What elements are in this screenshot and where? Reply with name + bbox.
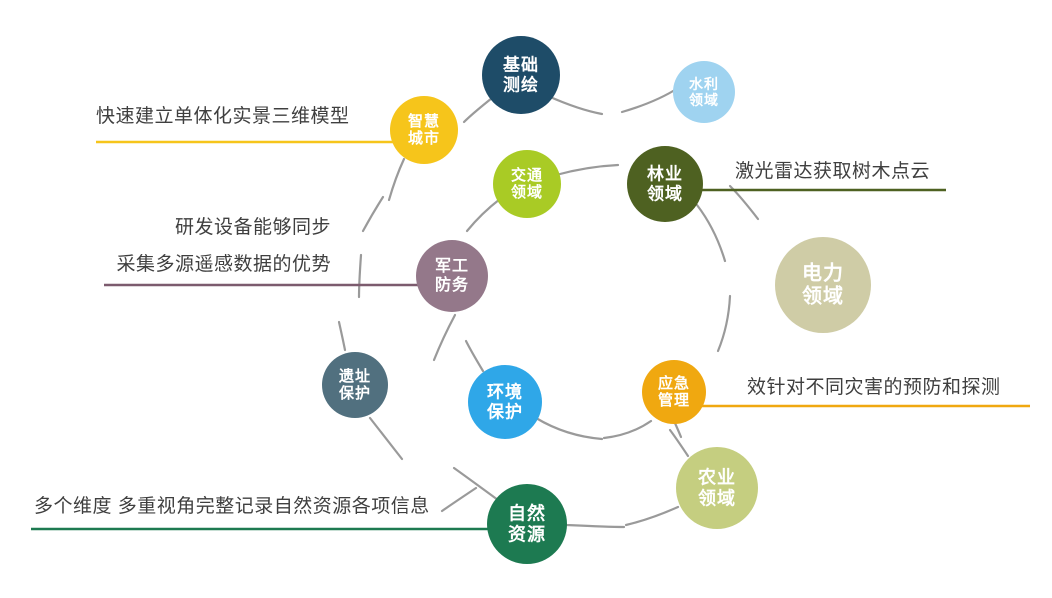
- node-label-line2: 领域: [510, 183, 543, 201]
- connector-arc: [536, 418, 602, 439]
- connector-arc: [339, 322, 345, 350]
- node-forestry[interactable]: 林业领域: [627, 146, 703, 222]
- connector-arc: [359, 255, 361, 297]
- diagram-canvas: 智慧城市基础测绘水利领域交通领域林业领域军工防务电力领域遗址保护环境保护应急管理…: [0, 0, 1052, 598]
- connector-arc: [604, 421, 651, 438]
- callout-forestry-callout: 激光雷达获取树木点云: [735, 160, 930, 182]
- connector-arc: [370, 418, 402, 459]
- connector-arc: [697, 205, 725, 261]
- connector-arc: [626, 507, 678, 525]
- node-label-line2: 防务: [435, 275, 469, 294]
- node-label-line1: 电力: [802, 261, 844, 284]
- node-natural-resources[interactable]: 自然资源: [487, 484, 567, 564]
- nodes-layer: 智慧城市基础测绘水利领域交通领域林业领域军工防务电力领域遗址保护环境保护应急管理…: [322, 36, 871, 564]
- node-label-line1: 自然: [508, 503, 546, 524]
- node-emergency-management[interactable]: 应急管理: [642, 360, 706, 424]
- node-agriculture[interactable]: 农业领域: [676, 447, 758, 529]
- connector-arc: [389, 159, 404, 200]
- node-power-sector[interactable]: 电力领域: [775, 237, 871, 333]
- node-label-line1: 环境: [487, 382, 523, 402]
- node-label-line1: 遗址: [338, 367, 371, 385]
- node-label-line1: 交通: [511, 166, 543, 184]
- node-label-line1: 基础: [502, 55, 539, 75]
- connector-arc: [454, 468, 498, 500]
- relationship-circle-diagram: 智慧城市基础测绘水利领域交通领域林业领域军工防务电力领域遗址保护环境保护应急管理…: [0, 0, 1052, 598]
- node-label-line2: 领域: [802, 284, 844, 308]
- node-label-line2: 测绘: [503, 74, 539, 94]
- node-transportation[interactable]: 交通领域: [493, 150, 561, 218]
- callout-military-callout-line2: 采集多源遥感数据的优势: [116, 253, 331, 275]
- node-label-line1: 智慧: [408, 112, 440, 130]
- callout-smart-city-callout: 快速建立单体化实景三维模型: [96, 105, 350, 127]
- node-label-line2: 保护: [338, 384, 371, 402]
- node-heritage-protection[interactable]: 遗址保护: [322, 352, 388, 418]
- node-environment-protection[interactable]: 环境保护: [468, 365, 542, 439]
- node-military-defense[interactable]: 军工防务: [416, 240, 488, 312]
- node-label-line1: 水利: [689, 76, 719, 92]
- node-smart-city[interactable]: 智慧城市: [390, 96, 458, 164]
- connector-arc: [548, 96, 602, 114]
- node-label-line2: 资源: [508, 523, 546, 544]
- node-basic-surveying[interactable]: 基础测绘: [482, 36, 560, 114]
- node-label-line2: 领域: [689, 92, 719, 108]
- node-label-line2: 领域: [647, 183, 683, 203]
- connector-arc: [363, 197, 383, 231]
- connector-arc: [467, 199, 500, 231]
- callout-emergency-callout: 效针对不同灾害的预防和探测: [747, 376, 1001, 398]
- connector-arc: [442, 488, 476, 511]
- callout-military-callout-line1: 研发设备能够同步: [175, 216, 331, 238]
- node-label-line2: 城市: [408, 129, 440, 147]
- connector-arc: [566, 525, 624, 527]
- node-label-line2: 领域: [698, 487, 736, 508]
- node-water-conservancy[interactable]: 水利领域: [673, 61, 735, 123]
- node-label-line2: 保护: [486, 401, 523, 421]
- connector-arc: [622, 88, 678, 112]
- node-label-line2: 管理: [658, 391, 690, 409]
- connector-arc: [466, 341, 483, 371]
- node-label-line1: 农业: [697, 467, 736, 488]
- connector-arc: [718, 296, 730, 351]
- callout-natural-resources-callout: 多个维度 多重视角完整记录自然资源各项信息: [34, 495, 430, 517]
- connector-arc: [464, 98, 492, 122]
- node-label-line1: 应急: [658, 374, 690, 392]
- connector-arc: [434, 315, 455, 360]
- connector-arc: [556, 165, 618, 175]
- node-label-line1: 军工: [435, 257, 469, 275]
- node-label-line1: 林业: [647, 164, 683, 184]
